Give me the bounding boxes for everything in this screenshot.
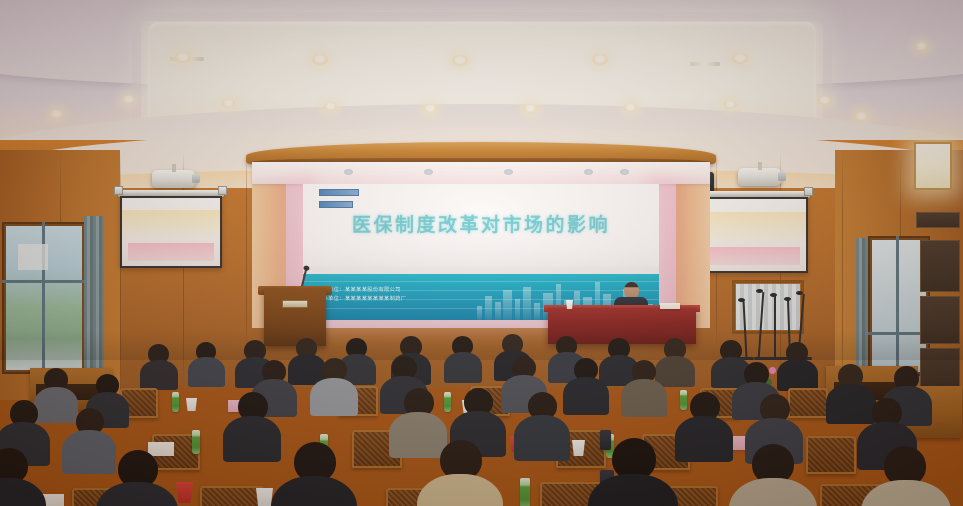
podium-name-plate [282, 300, 308, 308]
side-screen-image [122, 210, 220, 237]
microphone-head-icon [738, 298, 745, 302]
wall-sconce-light [914, 142, 952, 190]
screen-bracket [218, 186, 227, 195]
projector-mount [758, 162, 762, 170]
screen-bracket [114, 186, 123, 195]
stage-soffit-fixture [504, 169, 513, 175]
downlight [624, 103, 637, 112]
downlight [312, 54, 328, 65]
slide-logo-badges [319, 189, 361, 210]
side-screen-image [702, 212, 806, 241]
slot-light [690, 62, 720, 66]
thermos [600, 430, 611, 450]
stage-soffit-fixture [344, 169, 353, 175]
paper-cup-red [176, 482, 193, 503]
microphone-head-icon [756, 289, 763, 293]
side-screen-image-lower [128, 243, 214, 261]
water-bottle [680, 390, 687, 410]
water-bottle [192, 430, 200, 454]
logo-badge-icon [319, 201, 353, 208]
side-projection-screen-right [700, 197, 808, 273]
downlight [175, 52, 191, 63]
chair [806, 436, 856, 474]
main-projection-screen: 医保制度改革对市场的影响 [303, 184, 659, 320]
downlight [524, 104, 537, 113]
microphone-head-icon [770, 293, 777, 297]
co-organizer-line: 协办单位：某某某某某某某某制药厂 [317, 295, 406, 304]
microphone-head-icon [784, 297, 791, 301]
downlight [222, 99, 235, 108]
chair [788, 388, 828, 418]
logo-badge-icon [319, 189, 359, 196]
stage-soffit-fixture [424, 169, 433, 175]
downlight [818, 96, 831, 105]
building-outside [18, 244, 48, 270]
downlight [592, 54, 608, 65]
head-table-papers [660, 303, 680, 309]
paper-cup [572, 440, 585, 456]
stage-soffit-fixture [620, 169, 629, 175]
conference-hall-scene: 医保制度改革对市场的影响 [0, 0, 963, 506]
downlight [122, 95, 135, 104]
screen-bracket [804, 187, 813, 196]
downlight [424, 104, 437, 113]
water-bottle [520, 478, 530, 506]
slide-title: 医保制度改革对市场的影响 [303, 210, 659, 237]
side-projection-screen-left [120, 196, 222, 268]
side-screen-image-lower [708, 247, 800, 266]
projector-mount [172, 164, 176, 172]
downlight [452, 55, 468, 66]
paper-cup [186, 398, 197, 411]
ceiling-projector-left [152, 170, 196, 188]
chair [200, 486, 264, 506]
stage-top-soffit [252, 162, 710, 184]
downlight [324, 102, 337, 111]
water-bottle [444, 392, 451, 412]
head-table-cup [566, 300, 573, 309]
downlight [732, 53, 748, 64]
downlight [724, 100, 737, 109]
downlight [915, 42, 928, 51]
acoustic-panel [916, 212, 960, 228]
acoustic-panel [920, 240, 960, 292]
ceiling-projector-right [738, 168, 782, 186]
handout [148, 442, 174, 456]
microphone-head-icon [796, 291, 803, 295]
water-bottle [172, 392, 179, 412]
audience-seating-area [0, 330, 963, 506]
stage-soffit-fixture [584, 169, 593, 175]
